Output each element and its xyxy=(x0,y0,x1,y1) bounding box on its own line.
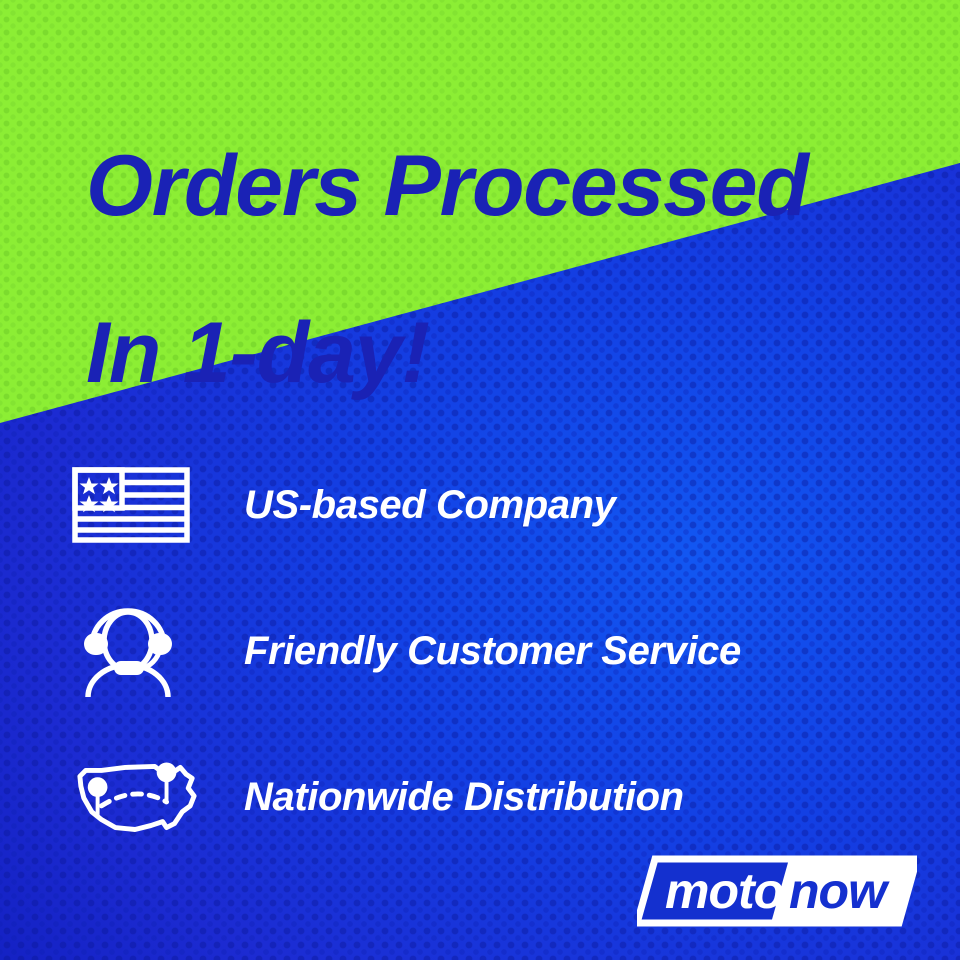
feature-item: US-based Company xyxy=(0,432,960,578)
headline-line-1: Orders Processed xyxy=(86,145,916,228)
feature-item: Friendly Customer Service xyxy=(0,578,960,724)
feature-label: US-based Company xyxy=(244,483,615,528)
logo-moto-text: moto xyxy=(665,863,783,919)
feature-list: US-based Company xyxy=(0,432,960,870)
headline: Orders Processed In 1-day! xyxy=(86,62,916,479)
us-flag-icon xyxy=(72,467,202,543)
logo-now-text: now xyxy=(789,863,890,919)
motonow-logo[interactable]: moto now xyxy=(637,855,917,927)
promo-banner: Orders Processed In 1-day! xyxy=(0,0,960,960)
feature-label: Friendly Customer Service xyxy=(244,629,741,674)
headset-support-icon xyxy=(72,605,202,697)
headline-line-2: In 1-day! xyxy=(86,312,916,395)
feature-item: Nationwide Distribution xyxy=(0,724,960,870)
feature-label: Nationwide Distribution xyxy=(244,775,684,820)
us-map-route-icon xyxy=(72,754,202,840)
